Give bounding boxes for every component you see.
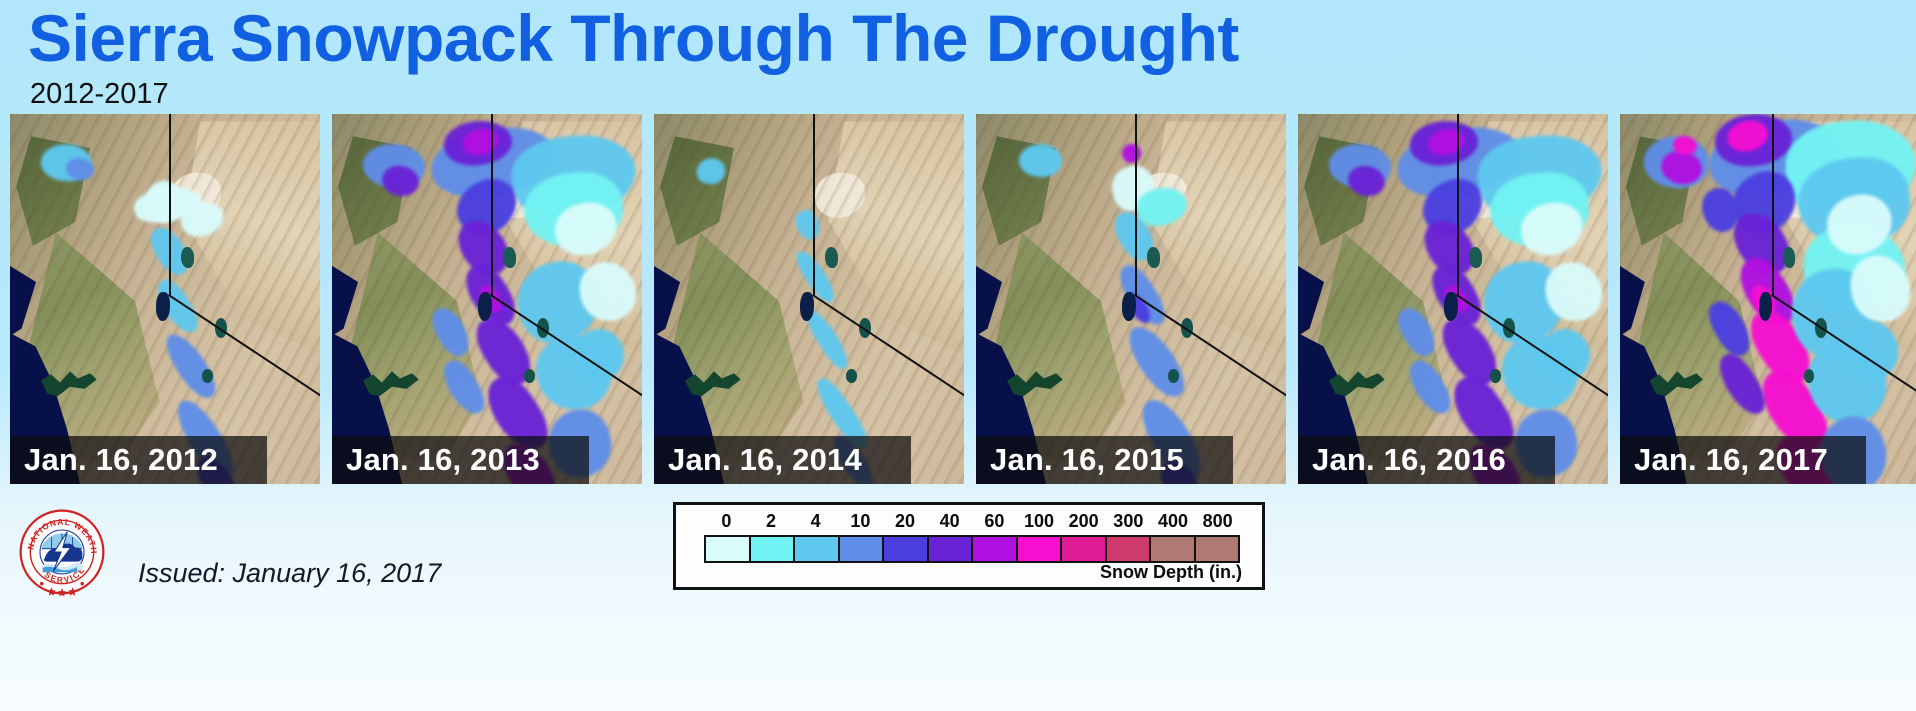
legend-swatch-4 (795, 537, 840, 561)
page-header: Sierra Snowpack Through The Drought 2012… (0, 0, 1916, 112)
legend-swatch-20 (884, 537, 929, 561)
map-panel-2017[interactable]: Jan. 16, 2017 (1620, 114, 1916, 484)
map-panel-2016[interactable]: Jan. 16, 2016 (1298, 114, 1608, 484)
legend-swatch-300 (1107, 537, 1152, 561)
satellite-map-image (654, 114, 964, 484)
satellite-map-image (1298, 114, 1608, 484)
legend-tick-2: 2 (766, 511, 776, 532)
lake-marker (503, 247, 516, 267)
legend-tick-40: 40 (940, 511, 960, 532)
legend-swatch-800 (1196, 537, 1239, 561)
snow-blob (695, 156, 727, 186)
snow-blob (1702, 296, 1757, 362)
map-panel-2012[interactable]: Jan. 16, 2012 (10, 114, 320, 484)
panel-date-caption: Jan. 16, 2016 (1298, 436, 1555, 484)
snow-blob (426, 303, 476, 362)
state-border-vertical (1457, 114, 1459, 295)
legend-title: Snow Depth (in.) (1100, 562, 1242, 583)
legend-tick-100: 100 (1024, 511, 1054, 532)
map-panel-2014[interactable]: Jan. 16, 2014 (654, 114, 964, 484)
state-border-vertical (1772, 114, 1774, 295)
panel-date-label: Jan. 16, 2016 (1298, 442, 1506, 478)
lake-marker (1804, 369, 1814, 382)
legend-swatch-100 (1018, 537, 1063, 561)
snow-blob (1119, 141, 1143, 165)
panel-date-caption: Jan. 16, 2015 (976, 436, 1233, 484)
legend-tick-300: 300 (1113, 511, 1143, 532)
panel-date-caption: Jan. 16, 2017 (1620, 436, 1866, 484)
lake-marker (1783, 247, 1795, 267)
lake-marker (1168, 369, 1179, 382)
panel-date-caption: Jan. 16, 2014 (654, 436, 911, 484)
satellite-map-image (10, 114, 320, 484)
panel-date-label: Jan. 16, 2017 (1620, 442, 1828, 478)
panel-date-label: Jan. 16, 2012 (10, 442, 218, 478)
snow-blob (791, 207, 825, 243)
lake-marker (1147, 247, 1160, 267)
lake-marker (202, 369, 213, 382)
snow-blob (1017, 141, 1065, 180)
legend-swatch-10 (840, 537, 885, 561)
snow-blob (159, 327, 223, 404)
panel-date-label: Jan. 16, 2013 (332, 442, 540, 478)
satellite-map-image (332, 114, 642, 484)
page-footer: NATIONAL WEATHER SERVICE Issued: January… (0, 484, 1916, 711)
state-border-vertical (169, 114, 171, 295)
legend-tick-labels: 02410204060100200300400800 (704, 511, 1240, 533)
panel-date-label: Jan. 16, 2015 (976, 442, 1184, 478)
lake-marker (1469, 247, 1482, 267)
legend-swatch-200 (1062, 537, 1107, 561)
legend-tick-200: 200 (1069, 511, 1099, 532)
legend-tick-0: 0 (721, 511, 731, 532)
snow-blob (437, 355, 491, 420)
state-border-vertical (813, 114, 815, 295)
legend-swatch-0 (706, 537, 751, 561)
legend-swatch-2 (751, 537, 796, 561)
snow-depth-legend: 02410204060100200300400800 Snow Depth (i… (673, 502, 1265, 590)
nws-logo-icon: NATIONAL WEATHER SERVICE (18, 508, 106, 596)
state-border-vertical (491, 114, 493, 295)
panel-date-caption: Jan. 16, 2013 (332, 436, 589, 484)
satellite-map-image (1620, 114, 1916, 484)
lake-marker (524, 369, 535, 382)
map-panel-2015[interactable]: Jan. 16, 2015 (976, 114, 1286, 484)
legend-tick-800: 800 (1203, 511, 1233, 532)
issued-date-label: Issued: January 16, 2017 (138, 558, 441, 589)
snow-blob (1392, 303, 1442, 362)
map-panel-strip: Jan. 16, 2012Jan. 16, 2013Jan. 16, 2014J… (0, 114, 1916, 484)
snow-blob (1403, 355, 1457, 420)
lake-marker (846, 369, 857, 382)
legend-tick-400: 400 (1158, 511, 1188, 532)
lake-marker (825, 247, 838, 267)
state-border-vertical (1135, 114, 1137, 295)
lake-marker (181, 247, 194, 267)
panel-date-label: Jan. 16, 2014 (654, 442, 862, 478)
legend-swatch-60 (973, 537, 1018, 561)
legend-tick-60: 60 (984, 511, 1004, 532)
legend-tick-20: 20 (895, 511, 915, 532)
legend-color-bar (704, 535, 1240, 563)
legend-swatch-400 (1151, 537, 1196, 561)
page-title: Sierra Snowpack Through The Drought (28, 4, 1239, 73)
map-panel-2013[interactable]: Jan. 16, 2013 (332, 114, 642, 484)
panel-date-caption: Jan. 16, 2012 (10, 436, 267, 484)
page-subtitle: 2012-2017 (30, 78, 169, 111)
legend-tick-10: 10 (850, 511, 870, 532)
satellite-map-image (976, 114, 1286, 484)
lake-marker (1490, 369, 1501, 382)
legend-tick-4: 4 (811, 511, 821, 532)
legend-swatch-40 (929, 537, 974, 561)
